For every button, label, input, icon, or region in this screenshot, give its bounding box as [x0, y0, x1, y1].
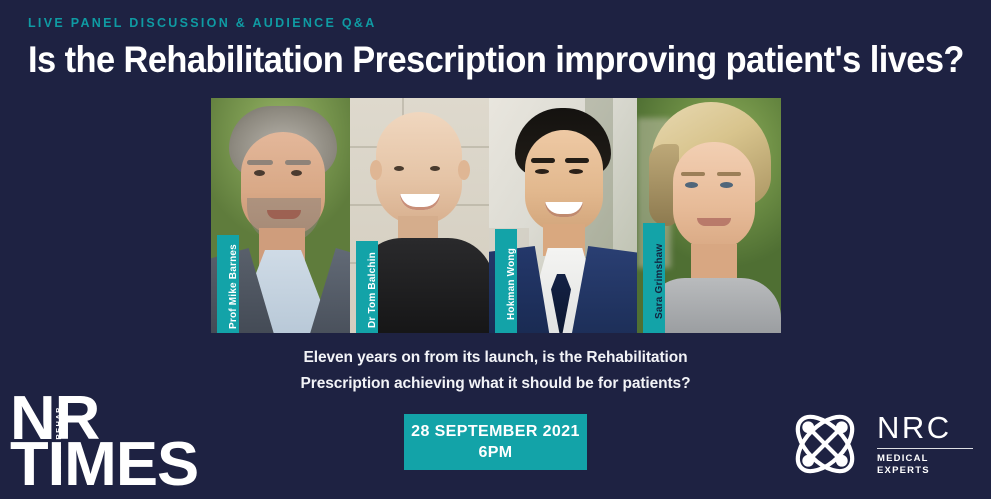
panelist-name-label: Dr Tom Balchin — [356, 241, 378, 333]
panelist-name-label: Prof Mike Barnes — [217, 235, 239, 333]
page-title: Is the Rehabilitation Prescription impro… — [28, 36, 964, 84]
nrc-name: NRC — [877, 411, 973, 445]
description-line-1: Eleven years on from its launch, is the … — [0, 345, 991, 371]
promo-banner: LIVE PANEL DISCUSSION & AUDIENCE Q&A Is … — [0, 0, 991, 497]
panelist-card: Sara Grimshaw — [637, 98, 781, 333]
panelist-card: Hokman Wong — [489, 98, 637, 333]
panelist-name-label: Hokman Wong — [495, 229, 517, 333]
panelist-name-label: Sara Grimshaw — [643, 223, 665, 333]
event-date-button[interactable]: 28 SEPTEMBER 2021 6PM — [404, 414, 587, 470]
nrc-wordmark: NRC MEDICAL EXPERTS — [877, 411, 973, 477]
panelist-photo-strip: Prof Mike Barnes Dr Tom Balchin — [211, 98, 781, 333]
panelist-card: Dr Tom Balchin — [350, 98, 489, 333]
description-text: Eleven years on from its launch, is the … — [0, 345, 991, 397]
nr-times-logo[interactable]: NR NEURO REHAB TIMES — [10, 392, 175, 492]
eyebrow-text: LIVE PANEL DISCUSSION & AUDIENCE Q&A — [28, 16, 377, 30]
panelist-card: Prof Mike Barnes — [211, 98, 350, 333]
nrc-divider — [877, 448, 973, 449]
nr-times-logo-line-2: TIMES — [10, 438, 198, 492]
atom-icon — [783, 402, 867, 486]
nrc-logo[interactable]: NRC MEDICAL EXPERTS — [783, 398, 973, 490]
event-time: 6PM — [478, 442, 512, 463]
event-date: 28 SEPTEMBER 2021 — [411, 421, 580, 442]
nrc-tagline: MEDICAL EXPERTS — [877, 453, 973, 477]
